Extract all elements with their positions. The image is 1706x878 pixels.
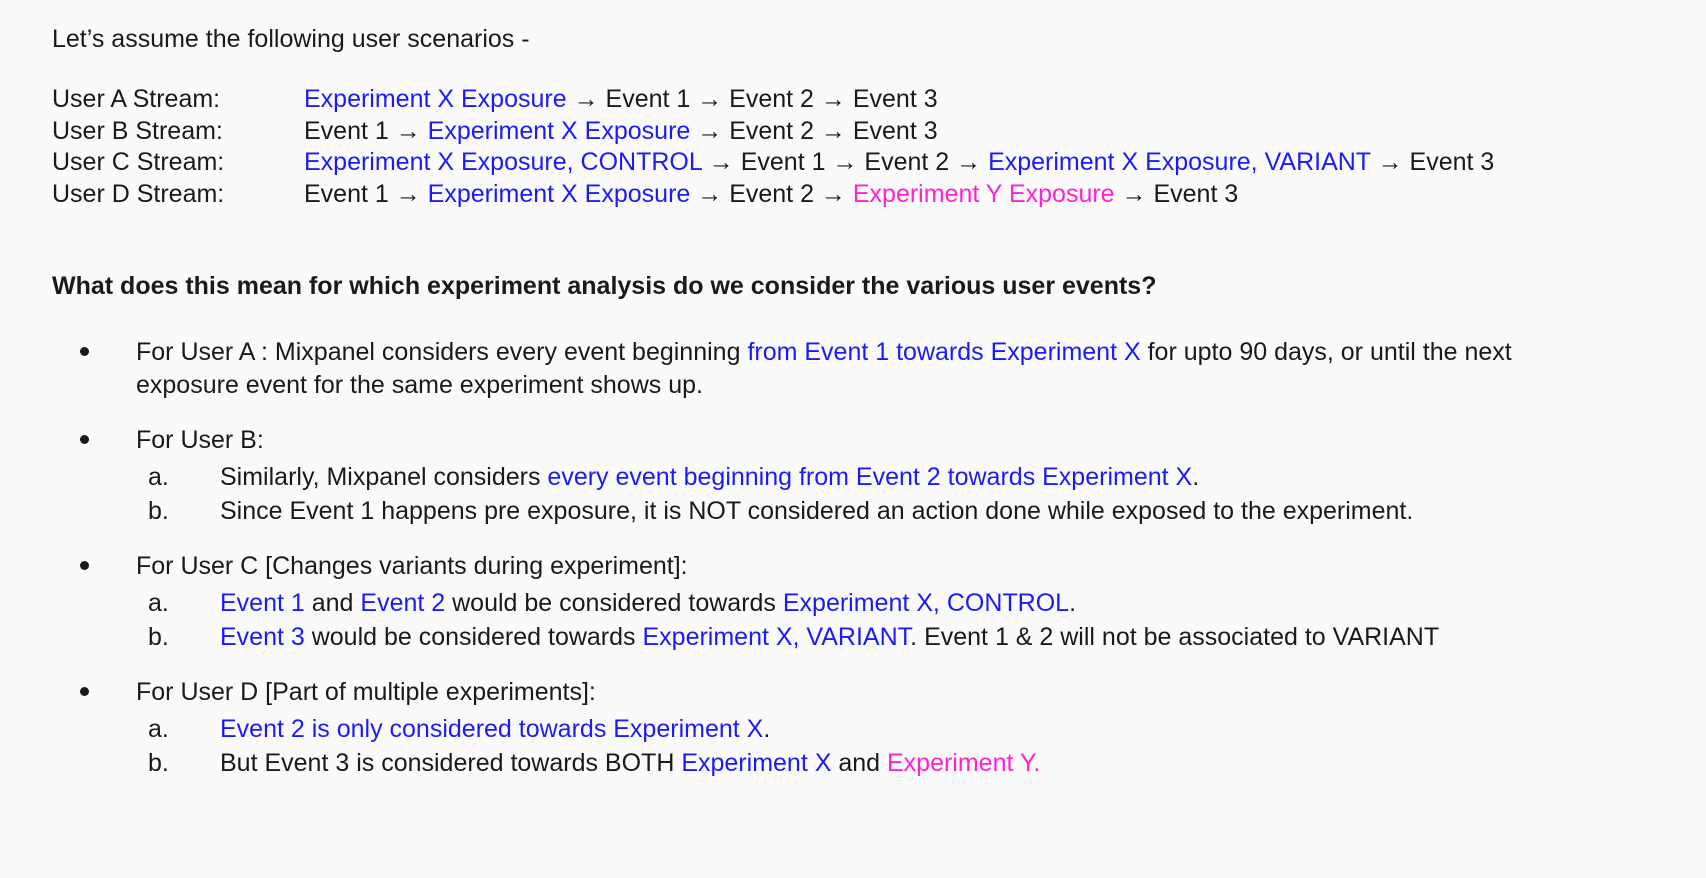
scenario-bullet-item: For User B:a.Similarly, Mixpanel conside… [52,424,1682,528]
sub-item-text: Event 3 would be considered towards Expe… [220,623,1439,651]
sub-item-marker: a. [148,586,188,620]
stream-text-run: Experiment X Exposure [304,85,567,113]
stream-text-run: → Event 3 [1115,180,1239,208]
scenario-sub-item: b.Since Event 1 happens pre exposure, it… [136,494,1682,528]
intro-paragraph: Let’s assume the following user scenario… [52,22,1682,56]
sub-text-run: Similarly, Mixpanel considers [220,463,547,491]
scenario-sub-list: a.Similarly, Mixpanel considers every ev… [136,460,1682,528]
sub-text-run: But Event 3 is considered towards BOTH [220,749,681,777]
scenario-sub-item: b.Event 3 would be considered towards Ex… [136,620,1682,654]
stream-text-run: → Event 2 → Event 3 [690,117,937,145]
scenario-bullet-item: For User D [Part of multiple experiments… [52,676,1682,780]
scenario-bullet-item: For User A : Mixpanel considers every ev… [52,336,1682,402]
sub-item-text: Event 2 is only considered towards Exper… [220,715,770,743]
stream-text-run: → Event 2 → [690,180,853,208]
sub-text-run: . [1069,589,1076,617]
sub-text-run: Experiment Y. [887,749,1040,777]
sub-text-run: Since Event 1 happens pre exposure, it i… [220,497,1413,525]
sub-text-run: . Event 1 & 2 will not be associated to … [910,623,1439,651]
stream-text-run: → Event 3 [1371,148,1495,176]
user-stream-sequence: Event 1 → Experiment X Exposure → Event … [304,116,1494,148]
user-stream-label: User A Stream: [52,84,304,116]
scenario-sub-item: a.Event 2 is only considered towards Exp… [136,712,1682,746]
scenario-bullet-item: For User C [Changes variants during expe… [52,550,1682,654]
user-stream-row: User C Stream:Experiment X Exposure, CON… [52,147,1494,179]
scenario-bullet-list: For User A : Mixpanel considers every ev… [52,336,1682,780]
user-stream-sequence: Experiment X Exposure → Event 1 → Event … [304,84,1494,116]
sub-item-text: Since Event 1 happens pre exposure, it i… [220,497,1413,525]
sub-text-run: Experiment X [681,749,831,777]
bullet-text-run: For User C [Changes variants during expe… [136,552,688,580]
sub-text-run: and [305,589,361,617]
sub-text-run: every event beginning from Event 2 towar… [547,463,1192,491]
stream-text-run: Experiment X Exposure, CONTROL [304,148,702,176]
sub-item-text: Similarly, Mixpanel considers every even… [220,463,1199,491]
stream-text-run: Experiment Y Exposure [853,180,1115,208]
sub-item-marker: b. [148,746,188,780]
sub-item-text: But Event 3 is considered towards BOTH E… [220,749,1040,777]
sub-text-run: . [763,715,770,743]
section-question-heading: What does this mean for which experiment… [52,270,1682,302]
scenario-sub-list: a.Event 2 is only considered towards Exp… [136,712,1682,780]
sub-text-run: . [1192,463,1199,491]
sub-item-marker: a. [148,460,188,494]
sub-item-marker: b. [148,494,188,528]
scenario-sub-item: a.Event 1 and Event 2 would be considere… [136,586,1682,620]
user-stream-label: User C Stream: [52,147,304,179]
user-stream-row: User A Stream:Experiment X Exposure → Ev… [52,84,1494,116]
scenario-sub-item: b.But Event 3 is considered towards BOTH… [136,746,1682,780]
scenario-bullet-text: For User C [Changes variants during expe… [136,550,1556,583]
bullet-text-run: For User A : Mixpanel considers every ev… [136,338,747,366]
scenario-sub-item: a.Similarly, Mixpanel considers every ev… [136,460,1682,494]
scenario-bullet-text: For User A : Mixpanel considers every ev… [136,336,1556,402]
sub-text-run: Experiment X, CONTROL [783,589,1069,617]
sub-text-run: Event 2 [360,589,445,617]
sub-text-run: would be considered towards [305,623,643,651]
document-body: Let’s assume the following user scenario… [0,0,1706,878]
sub-item-marker: a. [148,712,188,746]
sub-item-text: Event 1 and Event 2 would be considered … [220,589,1076,617]
sub-text-run: Experiment X, VARIANT [642,623,910,651]
scenario-bullet-text: For User D [Part of multiple experiments… [136,676,1556,709]
stream-text-run: Experiment X Exposure, VARIANT [988,148,1371,176]
user-stream-label: User D Stream: [52,179,304,211]
sub-text-run: Event 1 [220,589,305,617]
sub-item-marker: b. [148,620,188,654]
sub-text-run: Event 3 [220,623,305,651]
user-stream-row: User D Stream:Event 1 → Experiment X Exp… [52,179,1494,211]
user-stream-row: User B Stream:Event 1 → Experiment X Exp… [52,116,1494,148]
sub-text-run: Event 2 is only considered towards Exper… [220,715,763,743]
sub-text-run: and [831,749,887,777]
user-streams-table: User A Stream:Experiment X Exposure → Ev… [52,84,1494,210]
bullet-text-run: For User D [Part of multiple experiments… [136,678,596,706]
stream-text-run: Experiment X Exposure [428,117,691,145]
bullet-dot-icon [80,347,89,356]
stream-text-run: Event 1 → [304,117,428,145]
stream-text-run: → Event 1 → Event 2 → Event 3 [567,85,938,113]
user-stream-sequence: Experiment X Exposure, CONTROL → Event 1… [304,147,1494,179]
user-streams-rows: User A Stream:Experiment X Exposure → Ev… [52,84,1494,210]
stream-text-run: → Event 1 → Event 2 → [702,148,988,176]
bullet-dot-icon [80,687,89,696]
stream-text-run: Experiment X Exposure [428,180,691,208]
bullet-text-run: For User B: [136,426,264,454]
bullet-dot-icon [80,561,89,570]
bullet-text-run: from Event 1 towards Experiment X [747,338,1140,366]
stream-text-run: Event 1 → [304,180,428,208]
scenario-bullet-text: For User B: [136,424,1556,457]
scenario-sub-list: a.Event 1 and Event 2 would be considere… [136,586,1682,654]
user-stream-sequence: Event 1 → Experiment X Exposure → Event … [304,179,1494,211]
bullet-dot-icon [80,435,89,444]
sub-text-run: would be considered towards [445,589,783,617]
user-stream-label: User B Stream: [52,116,304,148]
